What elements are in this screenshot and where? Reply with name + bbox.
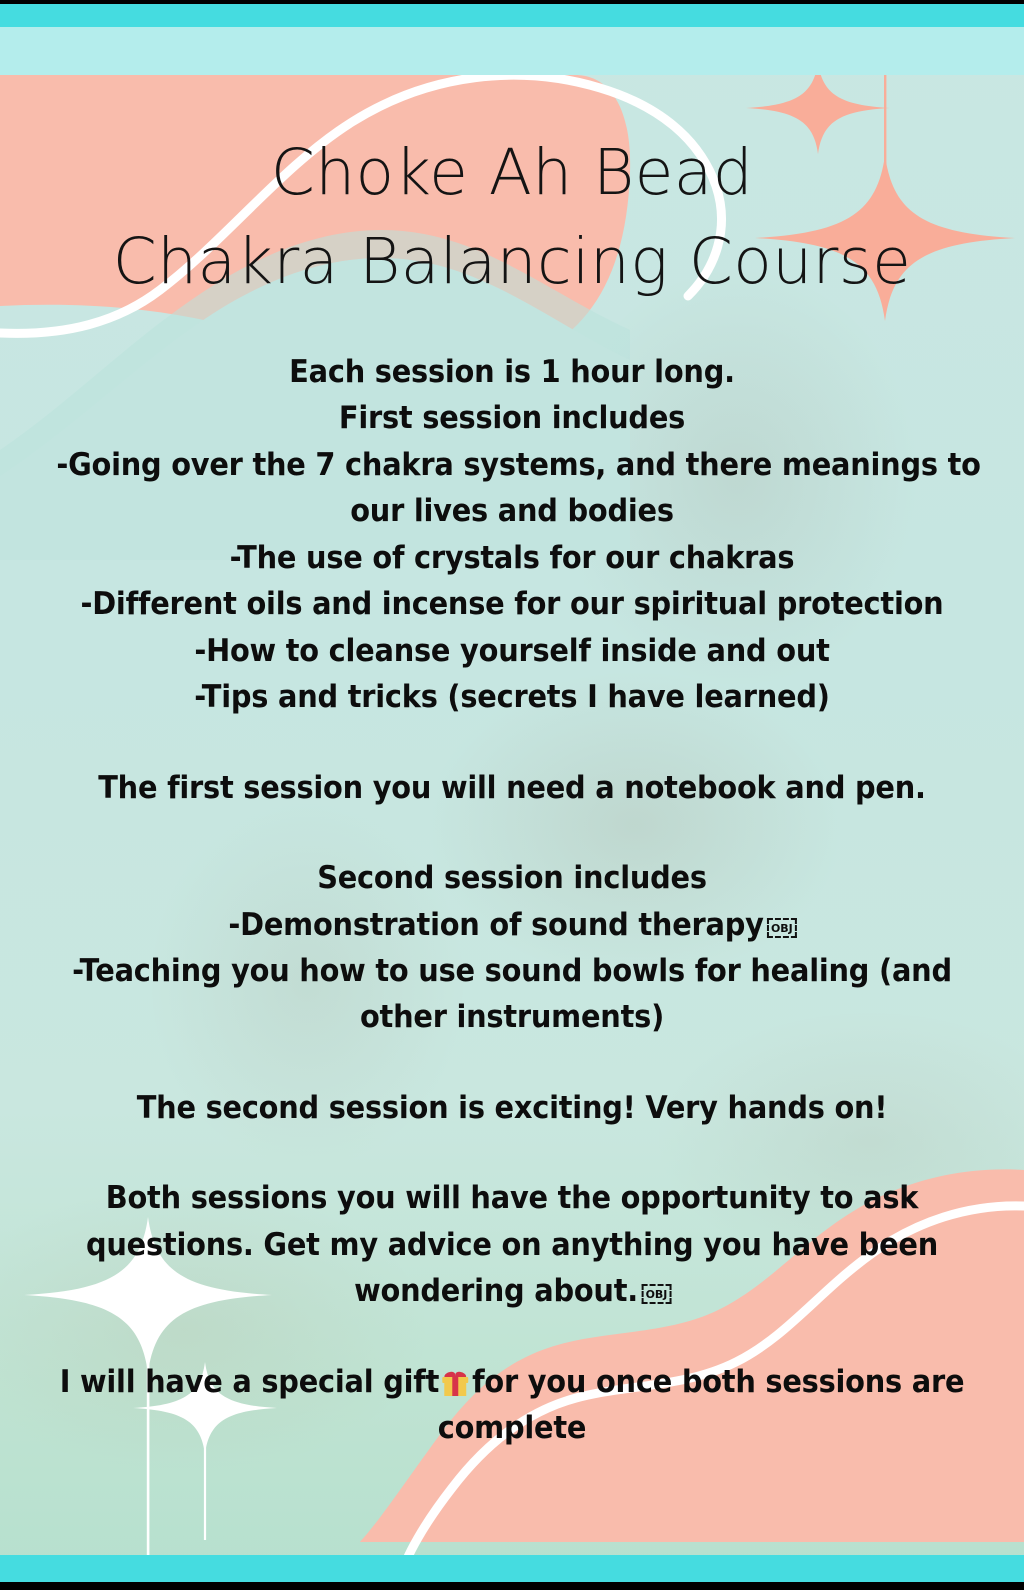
body-line-with-glyph: wondering about.OBJ (56, 1268, 967, 1314)
poster-title: Choke Ah Bead Chakra Balancing Course (0, 128, 1024, 307)
body-line-text: -Demonstration of sound therapy (228, 907, 763, 943)
body-line-text: I will have a special gift (60, 1364, 439, 1400)
body-line: Each session is 1 hour long. (56, 349, 967, 395)
paragraph-spacer (56, 1131, 967, 1175)
body-line: questions. Get my advice on anything you… (56, 1222, 967, 1268)
body-line-with-glyph: -Demonstration of sound therapyOBJ (56, 902, 967, 948)
missing-glyph-icon: OBJ (767, 918, 797, 938)
body-line: -How to cleanse yourself inside and out (56, 628, 967, 674)
body-line: other instruments) (56, 994, 967, 1040)
body-line: The first session you will need a notebo… (56, 765, 967, 811)
body-line: -Tips and tricks (secrets I have learned… (56, 674, 967, 720)
body-line: Both sessions you will have the opportun… (56, 1175, 967, 1221)
poster-content: Choke Ah Bead Chakra Balancing Course Ea… (0, 0, 1024, 1590)
paragraph-spacer (56, 1041, 967, 1085)
body-line: complete (56, 1405, 967, 1451)
body-line-with-gift: I will have a special giftfor you once b… (56, 1359, 967, 1405)
poster-body: Each session is 1 hour long. First sessi… (56, 349, 967, 1452)
missing-glyph-icon: OBJ (641, 1284, 671, 1304)
title-line-2: Chakra Balancing Course (0, 217, 1024, 306)
body-line: -Different oils and incense for our spir… (56, 581, 967, 627)
paragraph-spacer (56, 1315, 967, 1359)
paragraph-spacer (56, 811, 967, 855)
paragraph-first-session: Each session is 1 hour long. First sessi… (56, 349, 967, 721)
poster-canvas: Choke Ah Bead Chakra Balancing Course Ea… (0, 0, 1024, 1590)
paragraph-notebook-note: The first session you will need a notebo… (56, 765, 967, 811)
body-line-text: for you once both sessions are (472, 1364, 964, 1400)
paragraph-spacer (56, 721, 967, 765)
body-line: our lives and bodies (56, 488, 967, 534)
body-line: -Teaching you how to use sound bowls for… (56, 948, 967, 994)
body-line-text: wondering about. (354, 1273, 638, 1309)
title-line-1: Choke Ah Bead (0, 128, 1024, 217)
paragraph-questions: Both sessions you will have the opportun… (56, 1175, 967, 1314)
body-line: First session includes (56, 395, 967, 441)
body-line: Second session includes (56, 855, 967, 901)
body-line: -The use of crystals for our chakras (56, 535, 967, 581)
body-line: The second session is exciting! Very han… (56, 1085, 967, 1131)
paragraph-hands-on: The second session is exciting! Very han… (56, 1085, 967, 1131)
gift-emoji-icon (443, 1371, 469, 1396)
paragraph-special-gift: I will have a special giftfor you once b… (56, 1359, 967, 1452)
paragraph-second-session: Second session includes -Demonstration o… (56, 855, 967, 1041)
body-line: -Going over the 7 chakra systems, and th… (56, 442, 967, 488)
